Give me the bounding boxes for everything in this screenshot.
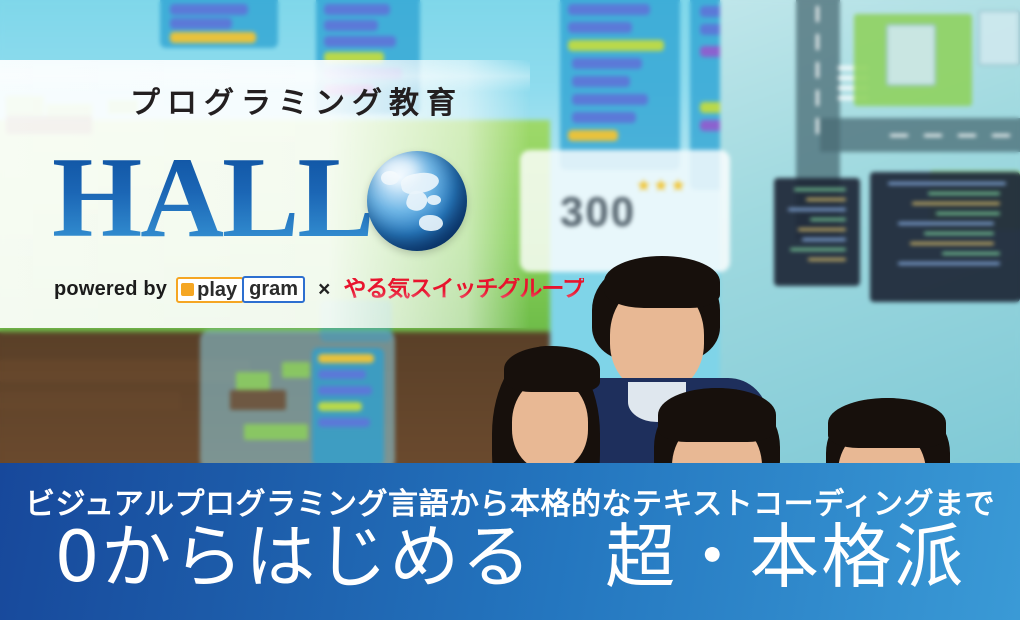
- student-boy-center-bangs: [658, 388, 776, 442]
- playgram-square-icon: [181, 283, 194, 296]
- powered-by-label: powered by: [54, 278, 167, 301]
- student-boy-right-bangs: [828, 398, 946, 448]
- instructor-hair-front: [604, 256, 720, 308]
- globe-continent: [427, 195, 441, 205]
- partner-separator: ×: [318, 278, 330, 302]
- playgram-gram-text: gram: [249, 278, 298, 300]
- tagline-band: ビジュアルプログラミング言語から本格的なテキストコーディングまで 0からはじめる…: [0, 463, 1020, 620]
- page-kicker: プログラミング教育: [130, 78, 463, 122]
- playgram-gram-box: gram: [242, 276, 305, 303]
- powered-by-row: powered by play gram × やる気スイッチグループ: [54, 276, 584, 303]
- partner-logo: やる気スイッチグループ: [343, 278, 584, 301]
- globe-icon: [367, 151, 467, 251]
- playgram-logo: play gram: [176, 276, 305, 303]
- globe-highlight: [377, 157, 419, 183]
- brand-logo: HALL: [52, 140, 467, 256]
- tagline-line-2: 0からはじめる 超・本格派: [0, 519, 1020, 596]
- globe-continent: [419, 215, 443, 231]
- playgram-play-text: play: [197, 280, 237, 300]
- student-girl-bangs: [504, 346, 600, 392]
- brand-wordmark: HALL: [52, 140, 373, 256]
- hero-banner: 300 ★★★: [0, 0, 1020, 620]
- playgram-play-box: play: [176, 277, 244, 303]
